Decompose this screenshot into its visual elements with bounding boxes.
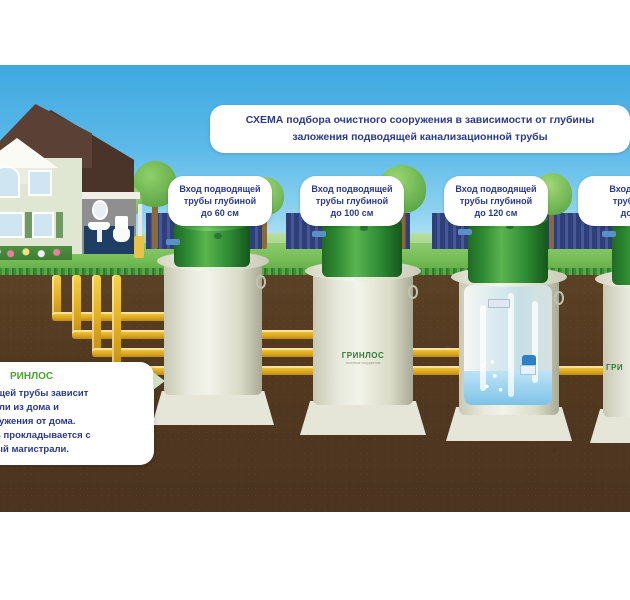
house-shutter-2 [25,212,32,238]
info-note-heading: РИНЛОС [0,370,144,383]
tank-body-2 [313,269,414,405]
illustration-canvas: ГРИНЛОС очистные сооружения [0,0,630,600]
info-note-line-4: страль прокладывается с [0,429,144,443]
tank-logo-sub-2: очистные сооружения [300,361,426,365]
house-wing-trim [76,192,140,199]
info-note-arrow [153,372,165,390]
house-window-upper-right [28,170,52,196]
house-shutter-3 [56,212,63,238]
tank-cutaway-window-3 [464,285,552,405]
info-note-line-2: гистрали из дома и [0,401,144,415]
callout-depth-60: Вход подводящей трубы глубиной до 60 см [168,176,272,226]
callout-140-line-1: Вход под [584,183,630,195]
tank-inlet-3 [458,229,472,235]
callout-depth-100: Вход подводящей трубы глубиной до 100 см [300,176,404,226]
treatment-unit-1 [152,213,274,425]
callout-100-line-1: Вход подводящей [306,183,398,195]
bathroom-sink-pedestal [97,229,102,242]
tank-pump-housing-3 [520,365,536,375]
callout-60-line-2: трубы глубиной [174,195,266,207]
tank-inlet-4 [602,231,616,237]
info-note-line-1: дводящей трубы зависит [0,387,144,401]
tank-lug-2 [408,285,418,299]
callout-140-line-3: до 1 [584,207,630,219]
callout-120-line-3: до 120 см [450,207,542,219]
house-window-upper-left [0,166,20,198]
tank-logo-2: ГРИНЛОС [300,351,426,360]
callout-60-line-1: Вход подводящей [174,183,266,195]
pipe-vertical-140 [112,275,121,373]
info-note-body: дводящей трубы зависит гистрали из дома … [0,387,144,457]
tank-lug-3 [554,291,564,305]
callout-depth-120: Вход подводящей трубы глубиной до 120 см [444,176,548,226]
callout-60-line-3: до 60 см [174,207,266,219]
title-line-1: СХЕМА подбора очистного сооружения в зав… [222,112,618,129]
tank-logo-4: ГРИ [590,363,630,372]
callout-100-line-2: трубы глубиной [306,195,398,207]
tank-aeration-bubbles-3 [476,357,510,399]
tank-body-1 [164,259,262,395]
pipe-vertical-120 [92,275,101,355]
house-window-lower-left [0,212,24,238]
callout-140-line-2: трубы г [584,195,630,207]
info-note-line-3: о сооружения от дома. [0,415,144,429]
treatment-unit-4: ГРИ [590,213,630,443]
info-note-line-5: огонный магистрали. [0,443,144,457]
treatment-unit-2: ГРИНЛОС очистные сооружения [300,211,426,435]
treatment-unit-3 [446,211,572,441]
bathroom-toilet-bowl [113,228,130,242]
tank-inlet-2 [312,231,326,237]
diagram-title: СХЕМА подбора очистного сооружения в зав… [210,105,630,153]
flower-bed [0,246,72,260]
tank-knob-1 [214,233,222,239]
tank-base-2 [300,401,426,435]
tank-lug-1 [256,275,266,289]
title-line-2: заложения подводящей канализационной тру… [222,129,618,146]
info-note: РИНЛОС дводящей трубы зависит гистрали и… [0,362,154,465]
house-window-lower-right [32,212,54,238]
callout-100-line-3: до 100 см [306,207,398,219]
pipe-vertical-100 [72,275,81,337]
callout-120-line-2: трубы глубиной [450,195,542,207]
tank-base-1 [152,391,274,425]
callout-depth-140: Вход под трубы г до 1 [578,176,630,226]
bathroom-mirror [92,200,108,220]
tank-control-panel-3 [488,299,510,308]
yellow-post [134,236,144,258]
callout-120-line-1: Вход подводящей [450,183,542,195]
tank-inlet-1 [166,239,180,245]
house [0,100,154,250]
tank-body-4 [603,277,630,417]
